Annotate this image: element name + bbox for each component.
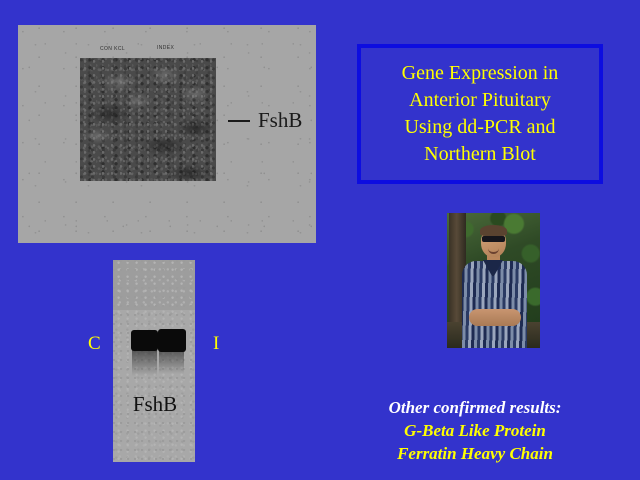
northern-lane-letter-c: C — [88, 333, 101, 355]
ddpcr-gel-image — [80, 58, 216, 181]
gel-highlight — [84, 128, 110, 144]
title-line-2: Anterior Pituitary — [409, 87, 551, 114]
other-results-item-1: G-Beta Like Protein — [330, 419, 620, 442]
gel-smudge — [142, 136, 186, 156]
ddpcr-fshb-label: FshB — [258, 108, 302, 133]
gel-smudge — [90, 103, 130, 125]
slide-title-box: Gene Expression in Anterior Pituitary Us… — [357, 44, 603, 184]
gel-smudge — [176, 118, 214, 138]
title-line-1: Gene Expression in — [402, 60, 559, 87]
ddpcr-fshb-marker: FshB — [228, 108, 302, 133]
portrait-photo — [447, 213, 540, 348]
northern-blot-caption: FshB — [120, 392, 190, 417]
gel-lane-label-right: INDEX — [157, 45, 174, 51]
other-results-header: Other confirmed results: — [330, 396, 620, 419]
blot-band-right — [158, 329, 186, 352]
other-results-item-2: Ferratin Heavy Chain — [330, 442, 620, 465]
gel-highlight — [102, 72, 136, 92]
gel-highlight — [180, 86, 210, 102]
other-results-block: Other confirmed results: G-Beta Like Pro… — [330, 396, 620, 465]
gel-smudge — [168, 164, 210, 181]
sunglasses-icon — [482, 236, 505, 242]
gel-highlight — [150, 66, 180, 84]
photo-crossed-arms — [469, 309, 521, 326]
blot-band-left — [131, 330, 158, 351]
title-line-4: Northern Blot — [424, 141, 536, 168]
northern-lane-letter-i: I — [213, 333, 219, 355]
northern-blot-panel — [113, 260, 195, 462]
ddpcr-gel-panel: CON KCL INDEX — [18, 25, 316, 243]
gel-lane-label-left: CON KCL — [100, 46, 125, 52]
marker-dash-icon — [228, 120, 250, 122]
gel-highlight — [124, 92, 152, 110]
presentation-slide: CON KCL INDEX FshB Gene Expression in An… — [0, 0, 640, 480]
title-line-3: Using dd-PCR and — [404, 114, 555, 141]
photo-hair — [480, 225, 507, 236]
